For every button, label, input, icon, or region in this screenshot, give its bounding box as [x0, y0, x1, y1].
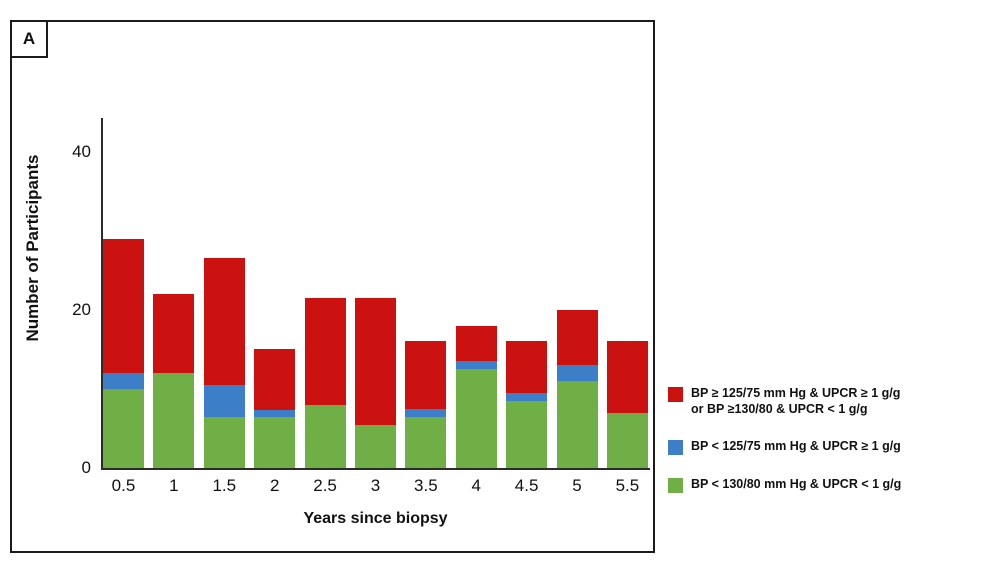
bar-segment[interactable] — [355, 425, 396, 469]
x-tick-label: 1.5 — [204, 476, 245, 496]
bar-segment[interactable] — [204, 417, 245, 468]
x-axis-tick-labels: 0.511.522.533.544.555.5 — [103, 476, 648, 496]
bar-segment[interactable] — [355, 298, 396, 425]
bar-segment[interactable] — [103, 239, 144, 373]
bar-stack[interactable] — [506, 341, 547, 468]
x-tick-label: 2.5 — [305, 476, 346, 496]
bar-stack[interactable] — [103, 239, 144, 468]
bar-stack[interactable] — [204, 258, 245, 468]
bar-segment[interactable] — [456, 369, 497, 468]
y-axis-title: Number of Participants — [23, 123, 43, 373]
panel-label-a: A — [10, 20, 48, 58]
bar-segment[interactable] — [557, 381, 598, 468]
bar-stack[interactable] — [607, 341, 648, 468]
bar-series-group — [103, 120, 648, 468]
bar-segment[interactable] — [405, 409, 446, 417]
legend-item[interactable]: BP ≥ 125/75 mm Hg & UPCR ≥ 1 g/gor BP ≥1… — [668, 386, 973, 417]
legend-color-swatch — [668, 387, 683, 402]
bar-segment[interactable] — [557, 310, 598, 365]
bar-segment[interactable] — [506, 393, 547, 401]
bar-segment[interactable] — [153, 373, 194, 468]
x-tick-label: 3.5 — [405, 476, 446, 496]
x-axis-title: Years since biopsy — [103, 510, 648, 528]
bar-segment[interactable] — [405, 341, 446, 408]
x-tick-label: 5 — [557, 476, 598, 496]
x-tick-label: 4.5 — [506, 476, 547, 496]
x-tick-label: 4 — [456, 476, 497, 496]
bar-stack[interactable] — [153, 294, 194, 468]
plot-area — [103, 120, 648, 468]
x-tick-label: 5.5 — [607, 476, 648, 496]
legend-item-label: BP < 130/80 mm Hg & UPCR < 1 g/g — [691, 477, 901, 493]
x-tick-label: 1 — [153, 476, 194, 496]
x-tick-label: 0.5 — [103, 476, 144, 496]
legend-item-label: BP ≥ 125/75 mm Hg & UPCR ≥ 1 g/gor BP ≥1… — [691, 386, 900, 417]
x-tick-label: 2 — [254, 476, 295, 496]
bar-stack[interactable] — [355, 298, 396, 468]
y-tick-label: 0 — [31, 458, 91, 478]
legend-item[interactable]: BP < 130/80 mm Hg & UPCR < 1 g/g — [668, 477, 973, 493]
bar-segment[interactable] — [607, 413, 648, 468]
x-tick-label: 3 — [355, 476, 396, 496]
bar-segment[interactable] — [607, 341, 648, 412]
bar-segment[interactable] — [254, 349, 295, 410]
bar-segment[interactable] — [305, 298, 346, 405]
bar-segment[interactable] — [204, 385, 245, 417]
bar-segment[interactable] — [153, 294, 194, 373]
legend-color-swatch — [668, 478, 683, 493]
bar-stack[interactable] — [305, 298, 346, 468]
bar-segment[interactable] — [506, 401, 547, 468]
bar-stack[interactable] — [254, 349, 295, 468]
bar-segment[interactable] — [405, 417, 446, 468]
bar-segment[interactable] — [557, 365, 598, 381]
bar-stack[interactable] — [405, 341, 446, 468]
panel-label-text: A — [23, 29, 35, 49]
legend-item-label-line2: or BP ≥130/80 & UPCR < 1 g/g — [691, 402, 900, 418]
legend-item-label: BP < 125/75 mm Hg & UPCR ≥ 1 g/g — [691, 439, 901, 455]
bar-stack[interactable] — [456, 326, 497, 468]
bar-segment[interactable] — [103, 373, 144, 389]
bar-segment[interactable] — [254, 417, 295, 468]
legend-color-swatch — [668, 440, 683, 455]
bar-segment[interactable] — [204, 258, 245, 385]
bar-segment[interactable] — [305, 405, 346, 468]
bar-stack[interactable] — [557, 310, 598, 468]
bar-segment[interactable] — [506, 341, 547, 392]
bar-segment[interactable] — [456, 361, 497, 369]
x-axis-line — [101, 468, 650, 470]
bar-segment[interactable] — [456, 326, 497, 362]
legend-item[interactable]: BP < 125/75 mm Hg & UPCR ≥ 1 g/g — [668, 439, 973, 455]
bar-segment[interactable] — [103, 389, 144, 468]
chart-legend: BP ≥ 125/75 mm Hg & UPCR ≥ 1 g/gor BP ≥1… — [668, 386, 973, 515]
